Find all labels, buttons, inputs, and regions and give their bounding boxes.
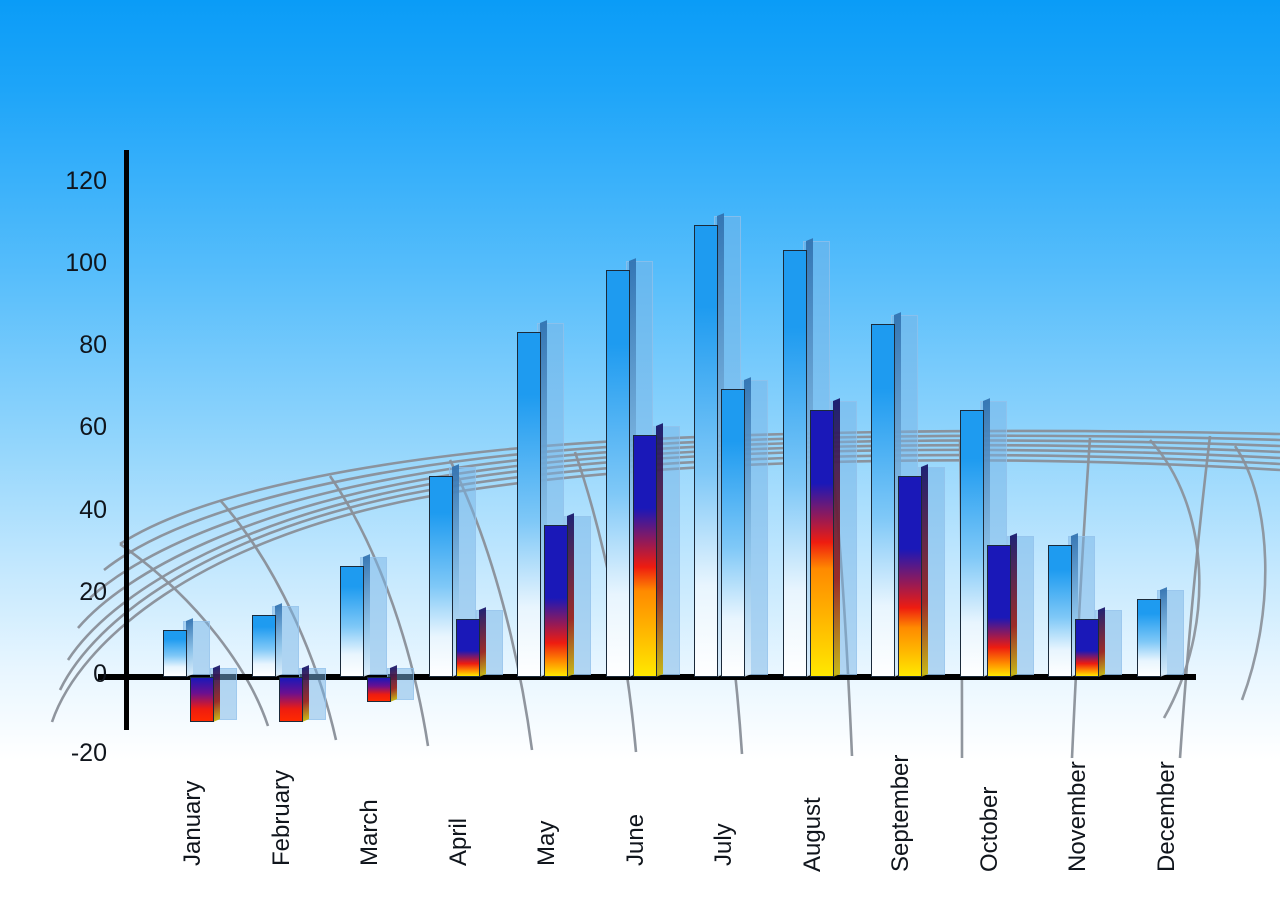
bar-side-face bbox=[302, 665, 309, 722]
bar-side-face bbox=[213, 665, 220, 722]
bar-front-face bbox=[279, 677, 303, 722]
y-tick-label: 100 bbox=[21, 249, 107, 278]
bar-series1[interactable] bbox=[783, 250, 807, 677]
bar-front-face bbox=[190, 677, 214, 722]
y-tick-label: 120 bbox=[21, 167, 107, 196]
bar-front-face bbox=[694, 225, 718, 677]
bar-side-face bbox=[1010, 534, 1017, 677]
bar-front-face bbox=[340, 566, 364, 677]
x-tick-label: March bbox=[356, 799, 384, 866]
bar-front-face bbox=[606, 270, 630, 677]
y-tick-label: 80 bbox=[21, 331, 107, 360]
bar-front-face bbox=[429, 476, 453, 677]
bar-front-face bbox=[517, 332, 541, 677]
bar-front-face bbox=[721, 389, 745, 677]
bar-front-face bbox=[633, 435, 657, 677]
x-tick-label: September bbox=[887, 755, 915, 872]
chart-canvas: -20020406080100120JanuaryFebruaryMarchAp… bbox=[0, 0, 1280, 905]
x-tick-label: July bbox=[710, 823, 738, 866]
bar-series1[interactable] bbox=[163, 630, 187, 677]
bar-side-face bbox=[656, 423, 663, 677]
bar-series1[interactable] bbox=[960, 410, 984, 677]
bar-side-face bbox=[186, 618, 193, 677]
bar-series2[interactable] bbox=[898, 476, 922, 677]
y-tick-label: 0 bbox=[21, 660, 107, 689]
bar-side-face bbox=[390, 665, 397, 701]
x-tick-label: August bbox=[799, 797, 827, 872]
y-axis bbox=[124, 150, 129, 731]
bar-front-face bbox=[1137, 599, 1161, 677]
bar-side-face bbox=[833, 398, 840, 677]
bar-front-face bbox=[544, 525, 568, 677]
x-tick-label: November bbox=[1064, 761, 1092, 872]
bar-side-face bbox=[479, 608, 486, 677]
bar-series1[interactable] bbox=[1137, 599, 1161, 677]
x-tick-label: January bbox=[179, 781, 207, 866]
bar-front-face bbox=[871, 324, 895, 677]
x-tick-label: February bbox=[268, 770, 296, 866]
bar-series1[interactable] bbox=[1048, 545, 1072, 677]
bar-series2[interactable] bbox=[279, 677, 303, 722]
bar-front-face bbox=[987, 545, 1011, 677]
bar-series1[interactable] bbox=[429, 476, 453, 677]
bar-side-face bbox=[1098, 608, 1105, 677]
bar-series2[interactable] bbox=[987, 545, 1011, 677]
bar-front-face bbox=[367, 677, 391, 702]
bar-series2[interactable] bbox=[456, 619, 480, 677]
plot-area: -20020406080100120JanuaryFebruaryMarchAp… bbox=[0, 0, 1280, 905]
bar-front-face bbox=[252, 615, 276, 677]
x-tick-label: April bbox=[445, 818, 473, 866]
bar-series1[interactable] bbox=[721, 389, 745, 677]
y-tick-label: 40 bbox=[21, 496, 107, 525]
bar-series1[interactable] bbox=[517, 332, 541, 677]
x-tick-label: October bbox=[976, 787, 1004, 872]
bar-side-face bbox=[1160, 587, 1167, 677]
bar-series1[interactable] bbox=[340, 566, 364, 677]
bar-series2[interactable] bbox=[190, 677, 214, 722]
bar-side-face bbox=[921, 464, 928, 677]
bar-front-face bbox=[960, 410, 984, 677]
bar-front-face bbox=[163, 630, 187, 677]
y-tick-label: 20 bbox=[21, 578, 107, 607]
bar-front-face bbox=[898, 476, 922, 677]
bar-series1[interactable] bbox=[694, 225, 718, 677]
y-tick-label: 60 bbox=[21, 413, 107, 442]
bar-series1[interactable] bbox=[871, 324, 895, 677]
bar-series2[interactable] bbox=[1075, 619, 1099, 677]
x-tick-label: December bbox=[1153, 761, 1181, 872]
bar-series2[interactable] bbox=[544, 525, 568, 677]
bar-series1[interactable] bbox=[252, 615, 276, 677]
bar-side-face bbox=[363, 554, 370, 677]
bar-series1[interactable] bbox=[606, 270, 630, 677]
y-tick-label: -20 bbox=[21, 739, 107, 768]
bar-front-face bbox=[810, 410, 834, 677]
bar-side-face bbox=[567, 513, 574, 677]
bar-side-face bbox=[275, 604, 282, 677]
bar-series2[interactable] bbox=[810, 410, 834, 677]
bar-front-face bbox=[456, 619, 480, 677]
bar-front-face bbox=[783, 250, 807, 677]
bar-series2[interactable] bbox=[633, 435, 657, 677]
x-tick-label: May bbox=[533, 821, 561, 866]
bar-side-face bbox=[744, 377, 751, 677]
bar-front-face bbox=[1048, 545, 1072, 677]
x-tick-label: June bbox=[622, 814, 650, 866]
bar-front-face bbox=[1075, 619, 1099, 677]
bar-series2[interactable] bbox=[367, 677, 391, 702]
